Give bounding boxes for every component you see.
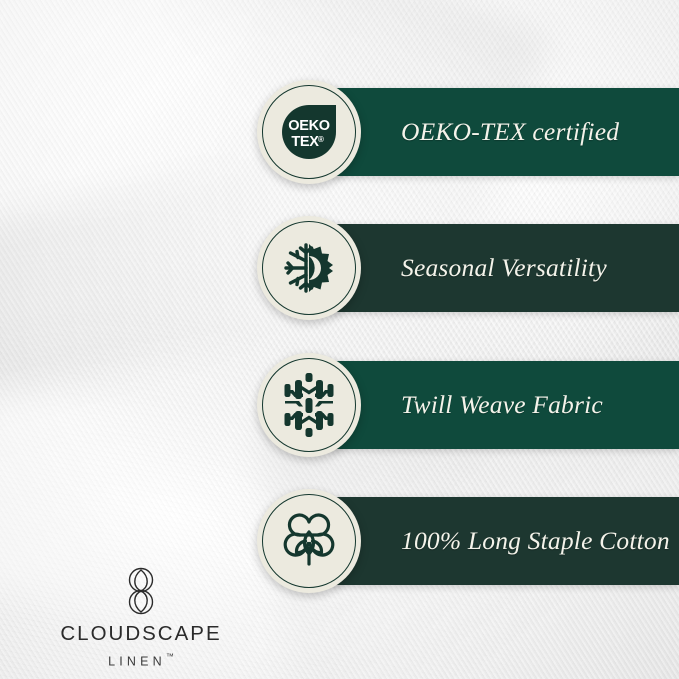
feature-banner-long-staple-cotton: 100% Long Staple Cotton: [331, 497, 679, 585]
brand-subtitle: LINEN: [108, 654, 166, 668]
snowflake-sun-icon: [278, 237, 340, 299]
feature-badge-seasonal-versatility: [257, 216, 361, 320]
feature-badge-twill-weave: [257, 353, 361, 457]
feature-banner-twill-weave: Twill Weave Fabric: [331, 361, 679, 449]
svg-text:OEKO: OEKO: [288, 118, 330, 134]
svg-text:TEX: TEX: [291, 134, 319, 150]
feature-banner-seasonal-versatility: Seasonal Versatility: [331, 224, 679, 312]
feature-badge-oeko-tex: OEKO TEX ®: [257, 80, 361, 184]
twill-weave-icon: [277, 373, 341, 437]
brand-subtitle-wrap: LINEN™: [46, 653, 236, 669]
product-feature-infographic: OEKO-TEX certified OEKO TEX ® Seasonal V…: [0, 0, 679, 679]
feature-badge-long-staple-cotton: [257, 489, 361, 593]
svg-text:®: ®: [318, 135, 324, 144]
brand-name: CLOUDSCAPE: [46, 624, 236, 645]
feature-label-twill-weave: Twill Weave Fabric: [401, 390, 603, 420]
infinity-petal-logo-mark: [123, 566, 159, 616]
oeko-tex-logo-icon: OEKO TEX ®: [276, 99, 342, 165]
feature-label-seasonal-versatility: Seasonal Versatility: [401, 253, 607, 283]
trademark-symbol: ™: [166, 652, 174, 661]
feature-label-long-staple-cotton: 100% Long Staple Cotton: [401, 526, 670, 556]
cotton-boll-icon: [276, 508, 342, 574]
feature-label-oeko-tex: OEKO-TEX certified: [401, 117, 619, 147]
brand-logo: CLOUDSCAPE LINEN™: [46, 566, 236, 669]
feature-banner-oeko-tex: OEKO-TEX certified: [331, 88, 679, 176]
